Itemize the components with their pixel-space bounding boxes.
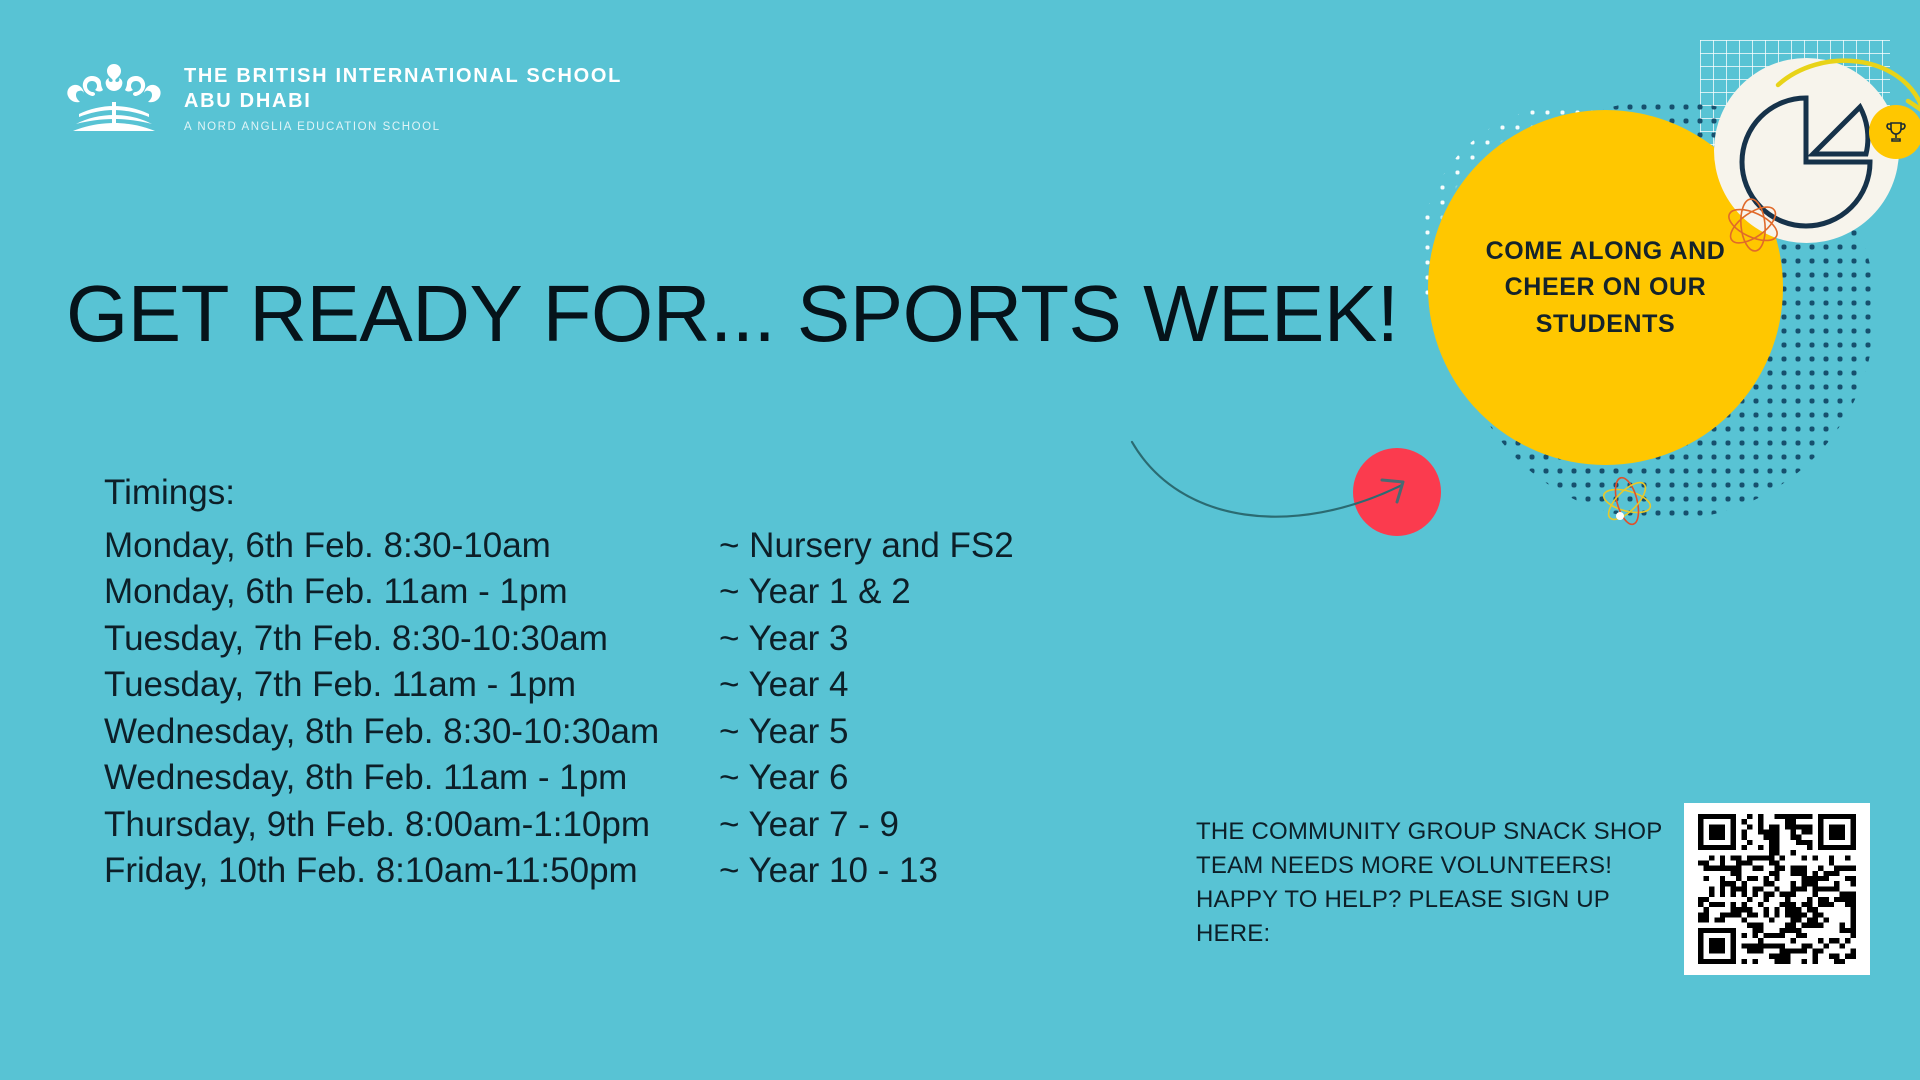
timings-row: Wednesday, 8th Feb. 8:30-10:30am ~ Year … (104, 709, 1014, 756)
timings-row: Monday, 6th Feb. 11am - 1pm ~ Year 1 & 2 (104, 569, 1014, 616)
qr-code[interactable] (1698, 814, 1856, 964)
timings-row: Tuesday, 7th Feb. 8:30-10:30am ~ Year 3 (104, 616, 1014, 663)
cheer-badge-text: COME ALONG AND CHEER ON OUR STUDENTS (1428, 110, 1783, 465)
timings-row-when: Tuesday, 7th Feb. 11am - 1pm (104, 662, 719, 709)
timings-row-who: ~ Year 6 (719, 755, 848, 802)
timings-heading: Timings: (104, 470, 1014, 517)
timings-row-who: ~ Year 7 - 9 (719, 802, 899, 849)
timings-row-when: Friday, 10th Feb. 8:10am-11:50pm (104, 848, 719, 895)
timings-row-when: Monday, 6th Feb. 11am - 1pm (104, 569, 719, 616)
logo-line-3: A NORD ANGLIA EDUCATION SCHOOL (184, 121, 622, 133)
volunteer-callout-text: THE COMMUNITY GROUP SNACK SHOP TEAM NEED… (1196, 815, 1671, 951)
timings-row: Friday, 10th Feb. 8:10am-11:50pm ~ Year … (104, 848, 1014, 895)
timings-row-when: Tuesday, 7th Feb. 8:30-10:30am (104, 616, 719, 663)
poster-canvas: COME ALONG AND CHEER ON OUR STUDENTS (0, 0, 1920, 1080)
timings-row-when: Thursday, 9th Feb. 8:00am-1:10pm (104, 802, 719, 849)
logo-line-2: ABU DHABI (184, 89, 622, 114)
timings-row-who: ~ Year 3 (719, 616, 848, 663)
spirograph-decor-icon-2 (1596, 470, 1658, 532)
qr-code-card[interactable] (1684, 803, 1870, 975)
trophy-icon (1881, 117, 1911, 147)
timings-row: Monday, 6th Feb. 8:30-10am ~ Nursery and… (104, 523, 1014, 570)
timings-row: Thursday, 9th Feb. 8:00am-1:10pm ~ Year … (104, 802, 1014, 849)
timings-row-who: ~ Year 1 & 2 (719, 569, 911, 616)
timings-row: Wednesday, 8th Feb. 11am - 1pm ~ Year 6 (104, 755, 1014, 802)
timings-row-when: Wednesday, 8th Feb. 8:30-10:30am (104, 709, 719, 756)
timings-block: Timings: Monday, 6th Feb. 8:30-10am ~ Nu… (104, 470, 1014, 895)
curved-arrow-icon (1770, 45, 1920, 140)
timings-list: Monday, 6th Feb. 8:30-10am ~ Nursery and… (104, 523, 1014, 895)
curved-line-arrow-icon (1120, 430, 1460, 580)
timings-row-when: Wednesday, 8th Feb. 11am - 1pm (104, 755, 719, 802)
page-title: GET READY FOR... SPORTS WEEK! (66, 268, 1398, 360)
timings-row-who: ~ Year 10 - 13 (719, 848, 938, 895)
timings-row-who: ~ Year 5 (719, 709, 848, 756)
timings-row-when: Monday, 6th Feb. 8:30-10am (104, 523, 719, 570)
timings-row-who: ~ Year 4 (719, 662, 848, 709)
crown-over-open-book-crest-icon (62, 58, 166, 136)
timings-row-who: ~ Nursery and FS2 (719, 523, 1014, 570)
trophy-badge (1869, 105, 1920, 159)
logo-line-1: THE BRITISH INTERNATIONAL SCHOOL (184, 64, 622, 89)
timings-row: Tuesday, 7th Feb. 11am - 1pm ~ Year 4 (104, 662, 1014, 709)
school-logo: THE BRITISH INTERNATIONAL SCHOOL ABU DHA… (62, 58, 622, 136)
